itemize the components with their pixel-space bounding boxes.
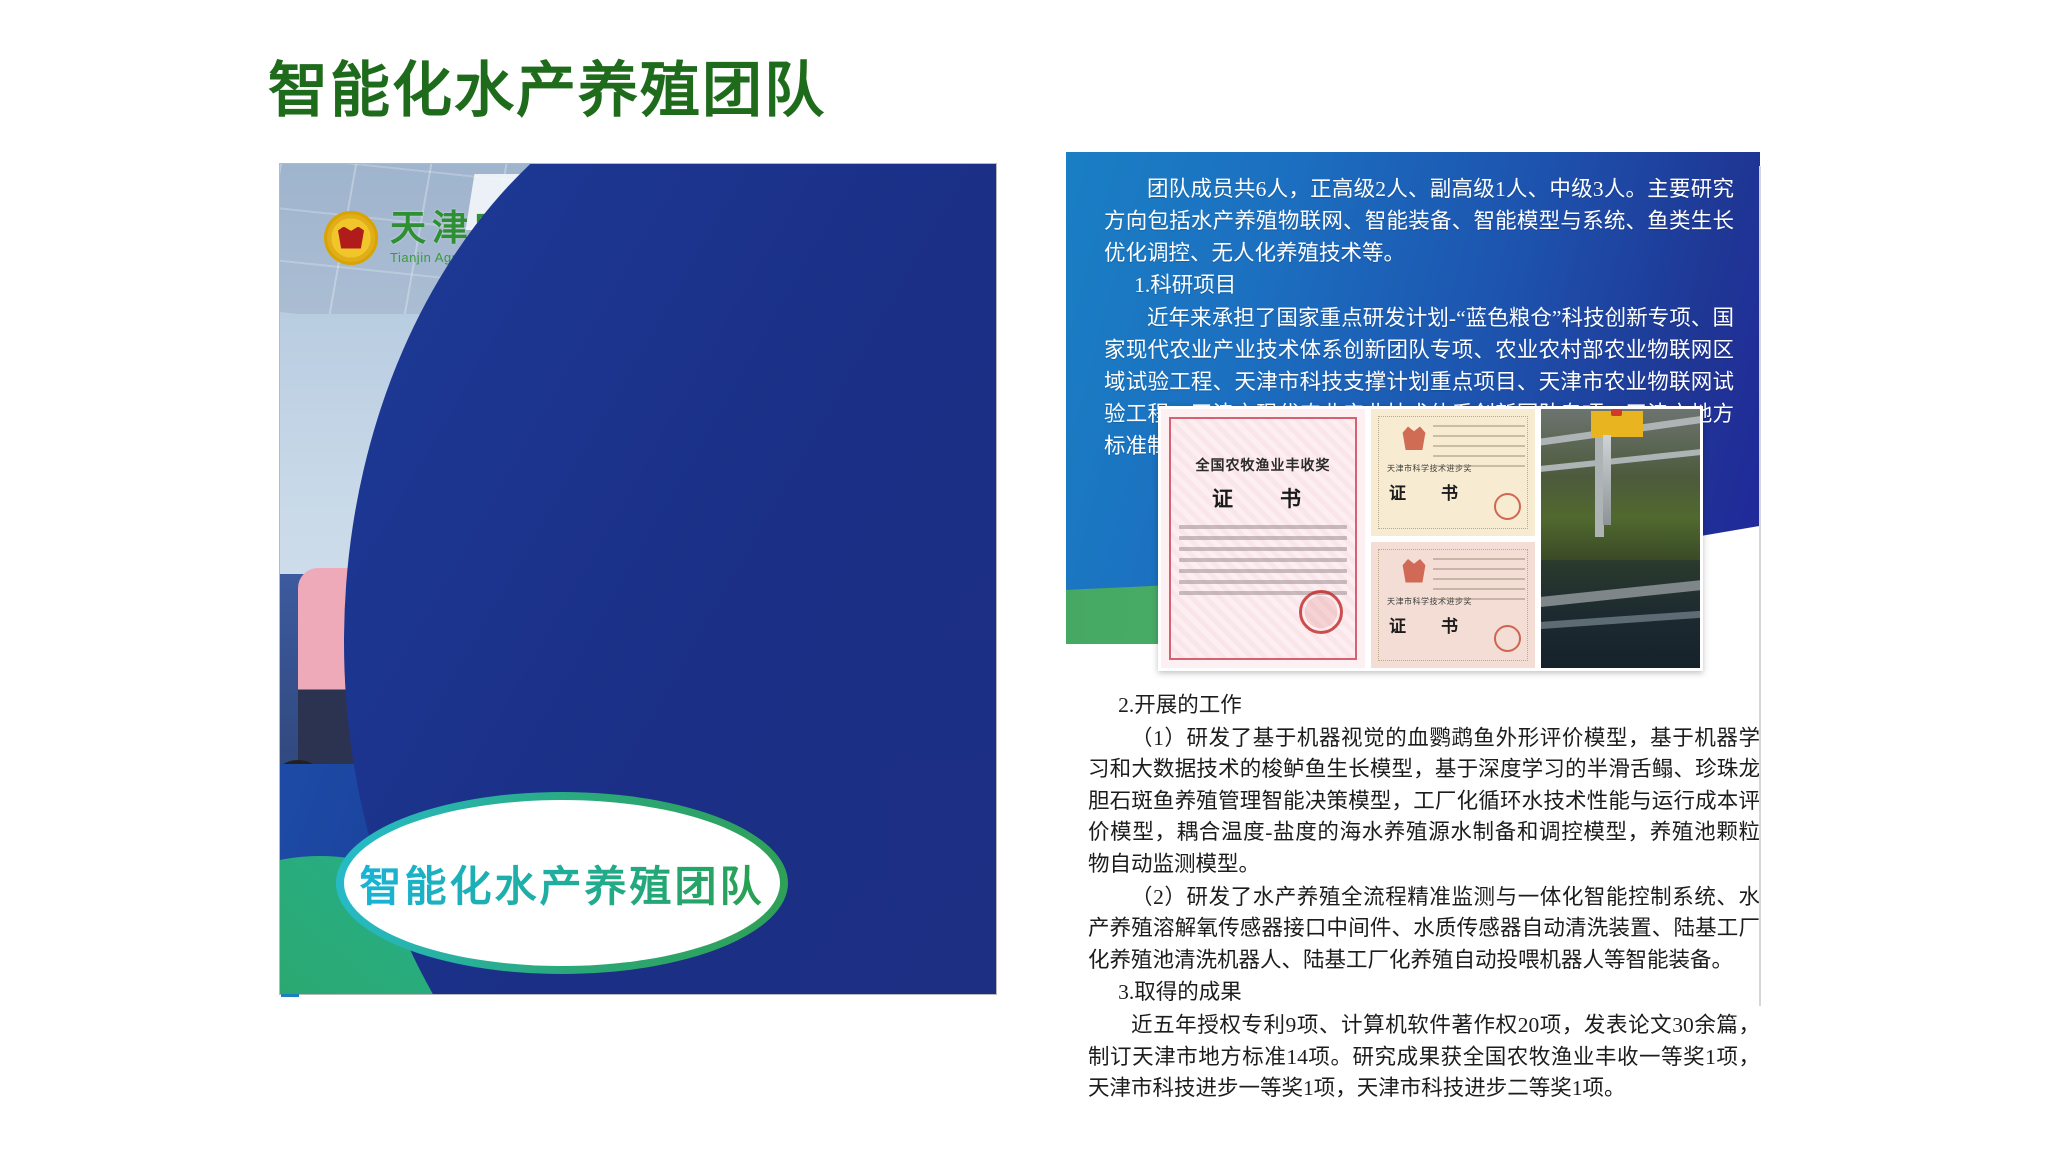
university-logo: 天津农学院 Tianjin Agricultural University xyxy=(324,210,600,265)
certificate-body-lines xyxy=(1179,525,1347,595)
certificate-title: 全国农牧渔业丰收奖 xyxy=(1169,455,1357,475)
feeding-robot-photo xyxy=(1541,409,1700,560)
torso xyxy=(880,574,980,764)
body-heading-work: 2.开展的工作 xyxy=(1088,690,1760,722)
university-emblem-icon xyxy=(324,211,378,265)
certificate-body-lines xyxy=(1433,425,1525,475)
page-title: 智能化水产养殖团队 xyxy=(268,42,826,129)
ceiling-light-secondary xyxy=(838,222,963,252)
robot-arm xyxy=(1603,435,1611,525)
pipe xyxy=(1541,609,1700,629)
body-heading-results: 3.取得的成果 xyxy=(1088,977,1760,1009)
certificate-word: 证 书 xyxy=(1169,483,1357,513)
certificate-tianjin-award-2: 天津市科学技术进步奖 证 书 xyxy=(1368,539,1538,672)
certificate-word: 证 书 xyxy=(1389,612,1467,637)
caption-text: 智能化水产养殖团队 xyxy=(359,853,764,914)
team-members-row xyxy=(280,496,996,764)
university-name-en: Tianjin Agricultural University xyxy=(390,250,600,265)
certificate-harvest-award: 全国农牧渔业丰收奖 证 书 xyxy=(1158,406,1368,671)
torso xyxy=(409,576,511,764)
certificate-seal-icon xyxy=(1494,493,1521,520)
torso xyxy=(298,568,398,764)
right-divider xyxy=(1759,166,1761,1006)
certificate-body-lines xyxy=(1433,558,1525,608)
torso xyxy=(520,552,640,764)
body-paragraph-models: （1）研发了基于机器视觉的血鹦鹉鱼外形评价模型，基于机器学习和大数据技术的梭鲈鱼… xyxy=(1088,723,1760,881)
warning-light-icon xyxy=(1611,409,1622,416)
university-name-cn: 天津农学院 xyxy=(390,210,600,246)
certificate-column: 天津市科学技术进步奖 证 书 天津市科学技术进步奖 证 书 xyxy=(1368,406,1538,671)
body-paragraph-results: 近五年授权专利9项、计算机软件著作权20项，发表论文30余篇，制订天津市地方标准… xyxy=(1088,1010,1760,1105)
certificate-seal-icon xyxy=(1299,590,1343,634)
media-strip: 全国农牧渔业丰收奖 证 书 天津市科学技术进步奖 证 书 天津市科学技术进步奖 … xyxy=(1158,406,1703,671)
body-paragraph-systems: （2）研发了水产养殖全流程精准监测与一体化智能控制系统、水产养殖溶解氧传感器接口… xyxy=(1088,882,1760,977)
certificate-seal-icon xyxy=(1494,625,1521,652)
panel-heading-projects: 1.科研项目 xyxy=(1104,270,1734,302)
team-group-photo: 天津农学院 Tianjin Agricultural University xyxy=(280,164,996,764)
team-photo-card: 天津农学院 Tianjin Agricultural University xyxy=(279,163,997,995)
tank-cleaning-photo xyxy=(1541,560,1700,668)
body-text-block: 2.开展的工作 （1）研发了基于机器视觉的血鹦鹉鱼外形评价模型，基于机器学习和大… xyxy=(1088,690,1760,1106)
ceiling-beam xyxy=(1541,447,1700,472)
caption-oval: 智能化水产养殖团队 xyxy=(344,800,780,966)
equipment-photos xyxy=(1538,406,1703,671)
panel-paragraph-intro: 团队成员共6人，正高级2人、副高级1人、中级3人。主要研究方向包括水产养殖物联网… xyxy=(1104,174,1734,269)
certificate-tianjin-award-1: 天津市科学技术进步奖 证 书 xyxy=(1368,406,1538,539)
certificate-word: 证 书 xyxy=(1389,479,1467,504)
pipe xyxy=(1541,578,1700,608)
